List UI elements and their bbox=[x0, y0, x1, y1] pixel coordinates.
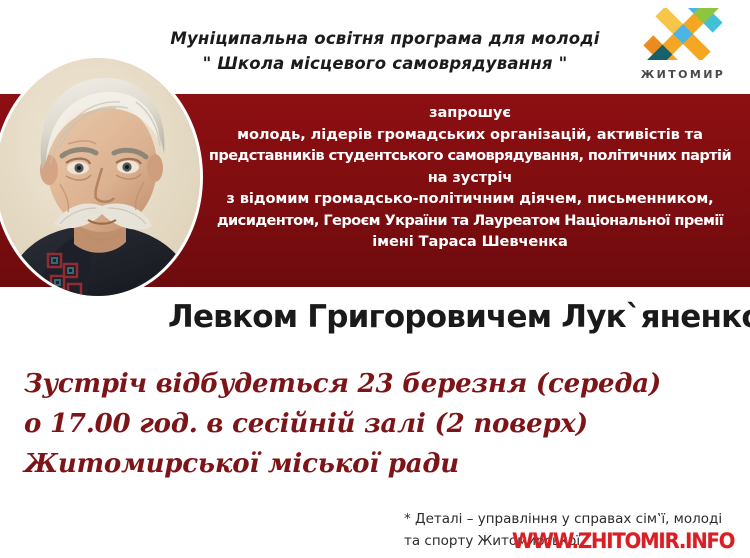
invitation-line-6: дисидентом, Героєм України та Лауреатом … bbox=[190, 210, 750, 232]
poster-root: Муніципальна освітня програма для молоді… bbox=[0, 0, 750, 558]
meeting-details: Зустріч відбудеться 23 березня (середа) … bbox=[24, 364, 724, 484]
invitation-line-3: представників студентського самоврядуван… bbox=[190, 145, 750, 167]
zhytomyr-logo: ЖИТОМИР bbox=[629, 8, 737, 88]
guest-portrait bbox=[0, 58, 200, 296]
meeting-details-line-3: Житомирської міської ради bbox=[24, 444, 724, 484]
meeting-details-line-2: о 17.00 год. в сесійній залі (2 поверх) bbox=[24, 404, 724, 444]
program-title-line-1: Муніципальна освітня програма для молоді bbox=[170, 29, 599, 48]
zhytomyr-logo-wordmark: ЖИТОМИР bbox=[629, 68, 737, 81]
footnote-line-1: * Деталі – управління у справах сім‛ї, м… bbox=[404, 508, 750, 530]
zhytomyr-logo-icon bbox=[633, 8, 733, 60]
meeting-details-line-1: Зустріч відбудеться 23 березня (середа) bbox=[24, 364, 724, 404]
invitation-line-7: імені Тараса Шевченка bbox=[190, 231, 750, 253]
invitation-line-2: молодь, лідерів громадських організацій,… bbox=[190, 124, 750, 146]
invitation-text: запрошує молодь, лідерів громадських орг… bbox=[190, 102, 750, 253]
guest-name: Левком Григоровичем Лук`яненко bbox=[168, 296, 750, 338]
program-title-line-2: " Школа місцевого самоврядування " bbox=[150, 51, 620, 76]
invitation-line-1: запрошує bbox=[190, 102, 750, 124]
invitation-line-4: на зустріч bbox=[190, 167, 750, 189]
invitation-line-5: з відомим громадсько-політичним діячем, … bbox=[190, 188, 750, 210]
site-watermark: WWW.ZHITOMIR.INFO bbox=[512, 529, 734, 553]
program-title: Муніципальна освітня програма для молоді… bbox=[150, 26, 620, 76]
